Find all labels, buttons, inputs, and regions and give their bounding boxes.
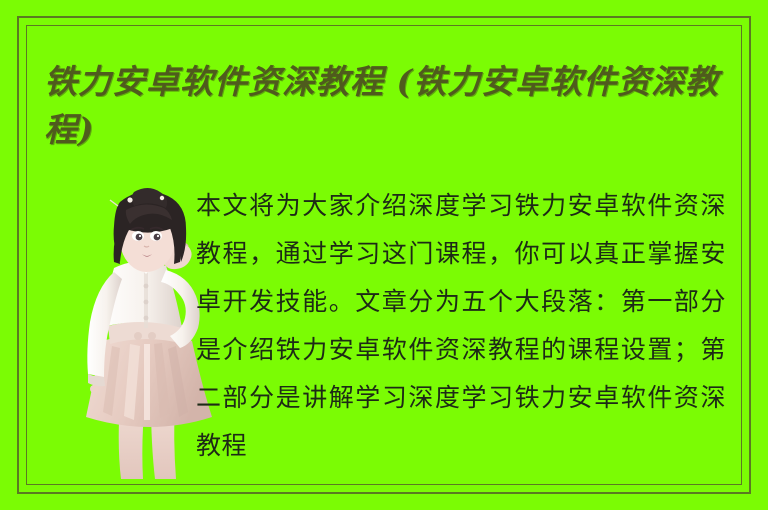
poster-canvas: 铁力安卓软件资深教程 (铁力安卓软件资深教程) bbox=[0, 0, 768, 510]
page-title: 铁力安卓软件资深教程 (铁力安卓软件资深教程) bbox=[44, 58, 724, 154]
article-body-text: 本文将为大家介绍深度学习铁力安卓软件资深教程，通过学习这门课程，你可以真正掌握安… bbox=[196, 182, 726, 474]
